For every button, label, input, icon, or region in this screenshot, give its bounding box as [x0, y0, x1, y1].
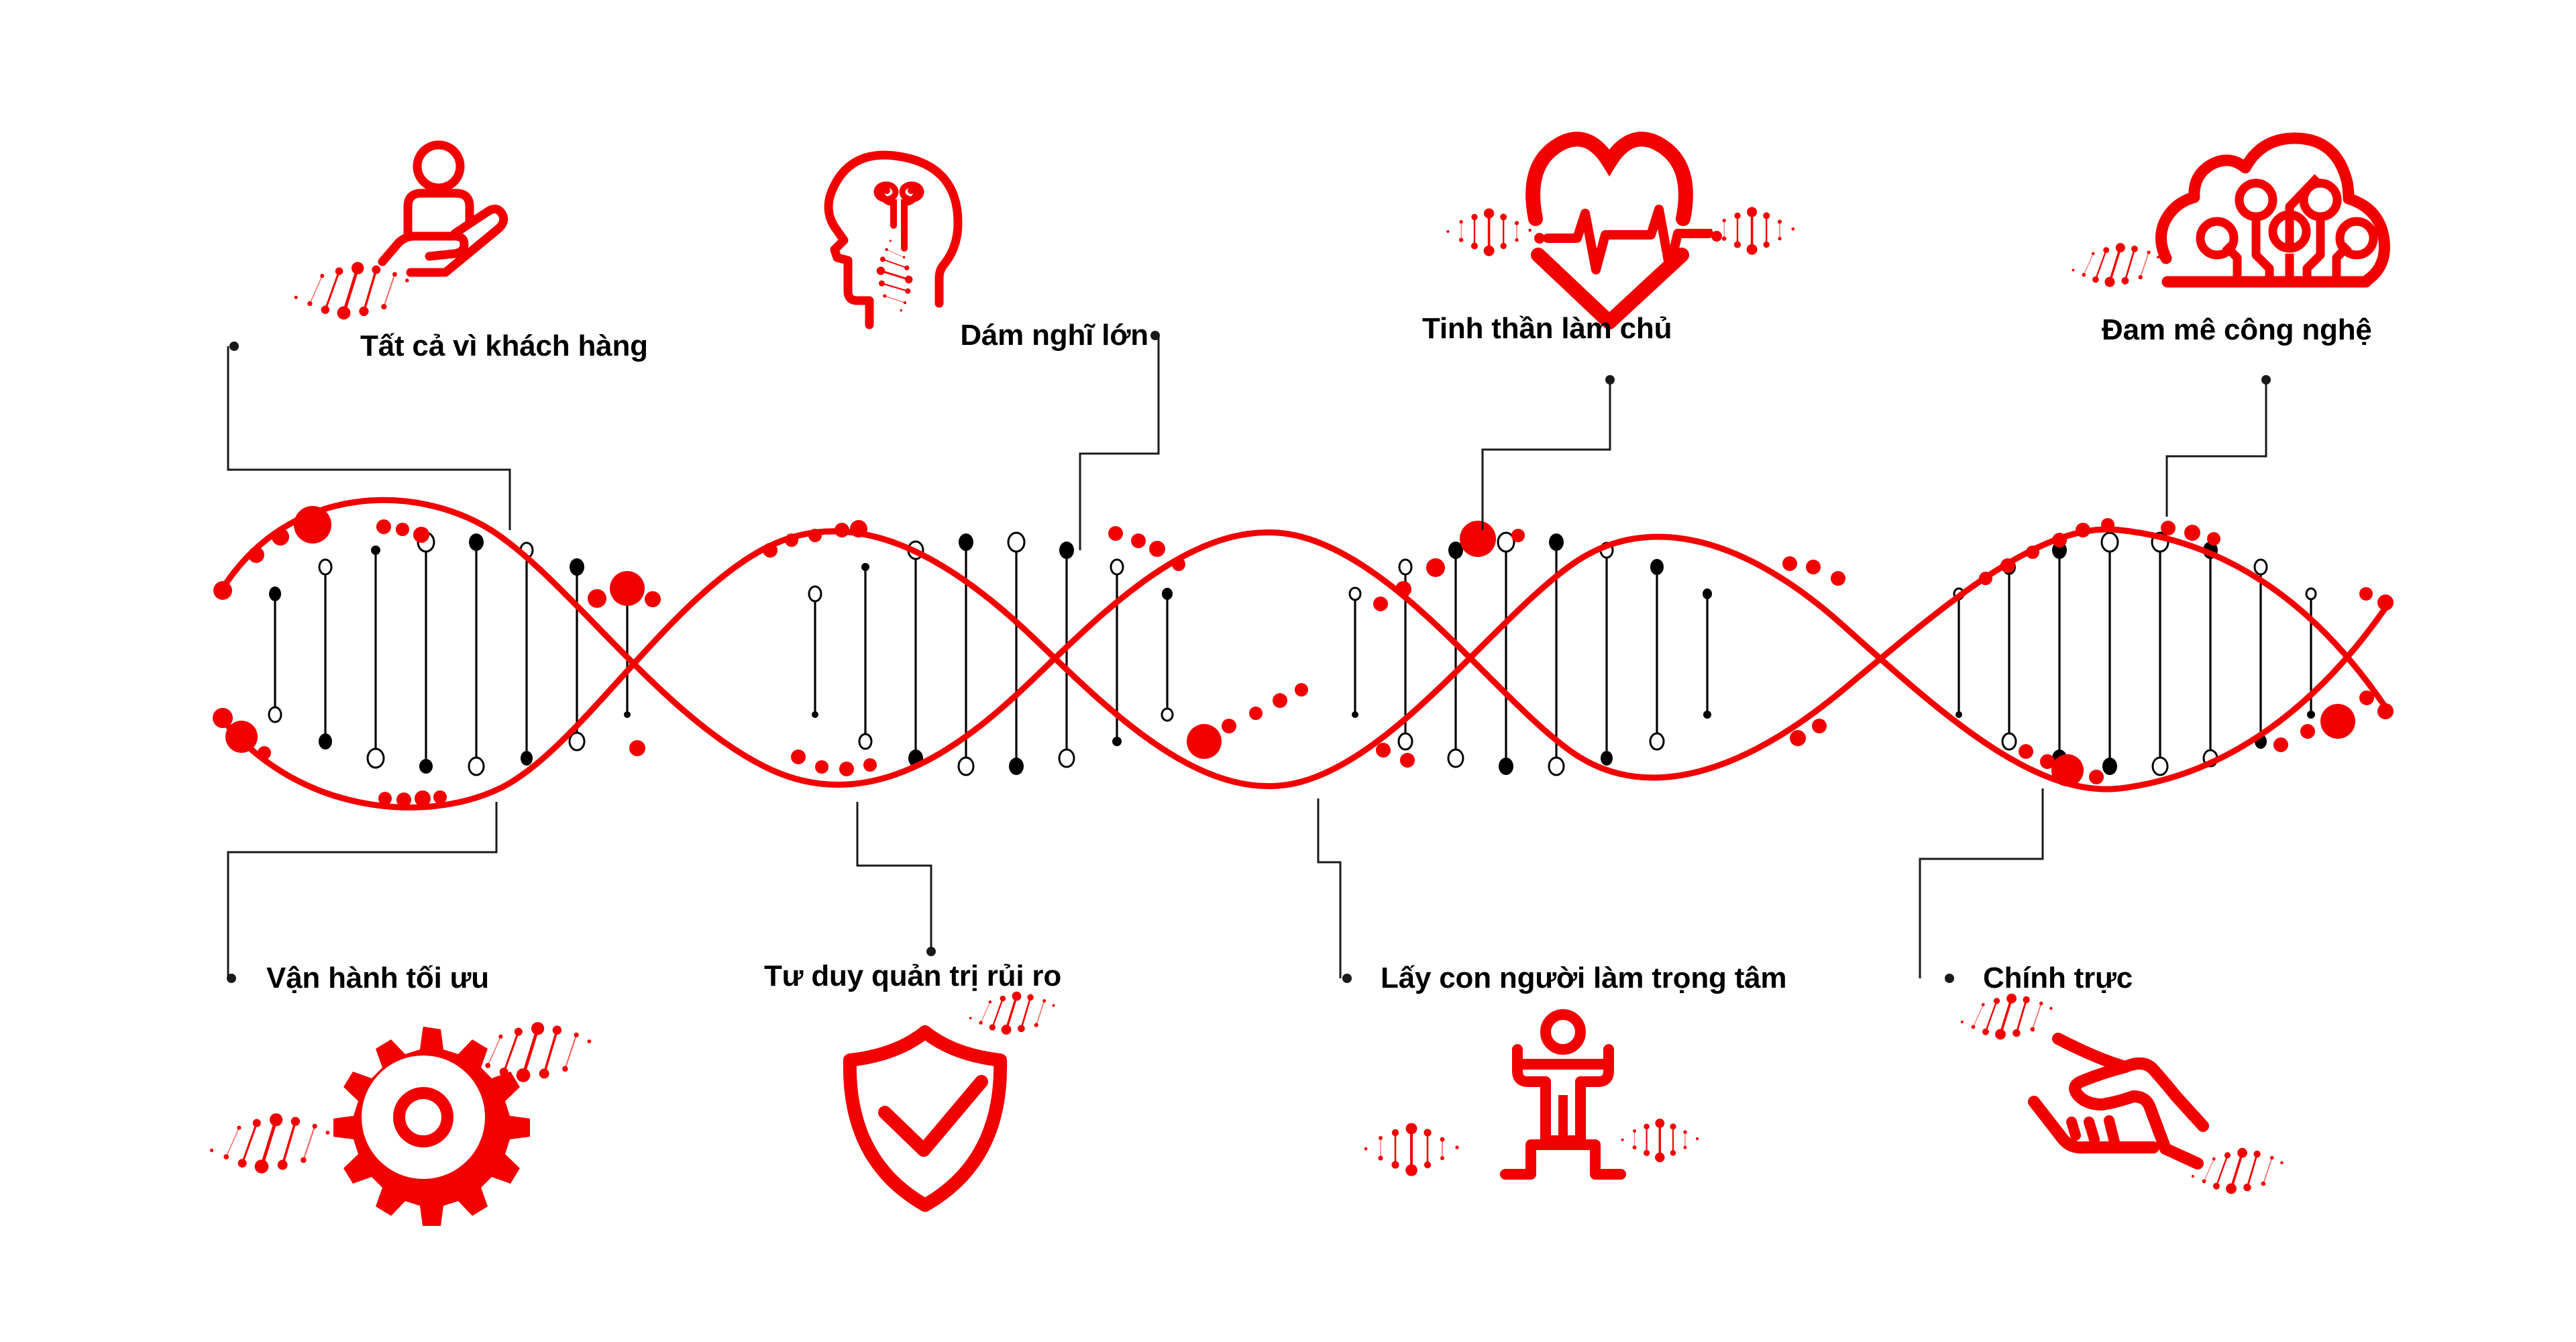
head-lightbulb-icon [828, 155, 958, 325]
dna-helix [213, 500, 2394, 807]
label-connectors [228, 335, 2266, 978]
gear-icon [210, 1022, 591, 1226]
label-dam-nghi-lon[interactable]: Dám nghĩ lớn [960, 321, 1148, 350]
label-tinh-than-lam-chu[interactable]: Tinh thần làm chủ [1422, 314, 1672, 344]
person-in-hand-icon [294, 145, 504, 319]
handshake-icon [1961, 994, 2284, 1194]
heart-pulse-icon [1446, 139, 1794, 322]
label-tat-ca-vi-khach-hang[interactable]: Tất cả vì khách hàng [360, 331, 648, 361]
connector-end-dots [227, 331, 2271, 983]
label-van-hanh-toi-uu[interactable]: Vận hành tối ưu [266, 964, 489, 993]
connector-lay-con-nguoi [1318, 798, 1340, 978]
label-dam-me-cong-nghe[interactable]: Đam mê công nghệ [2102, 315, 2372, 345]
shield-check-icon [850, 992, 1055, 1205]
connector-chinh-truc [1920, 788, 2043, 978]
cloud-circuit-icon [2072, 138, 2385, 287]
connector-dam-nghi-lon [1080, 335, 1159, 550]
dna-values-illustration [0, 0, 2576, 1342]
connector-tinh-than-lam-chu [1483, 382, 1610, 530]
person-podium-icon [1364, 1015, 1699, 1176]
label-lay-con-nguoi-lam-trong-tam[interactable]: Lấy con người làm trọng tâm [1381, 964, 1786, 993]
connector-van-hanh-toi-uu [228, 802, 496, 978]
label-tu-duy-quan-tri-rui-ro[interactable]: Tư duy quản trị rủi ro [764, 962, 1061, 991]
label-chinh-truc[interactable]: Chính trực [1983, 964, 2133, 993]
infographic-canvas: Tất cả vì khách hàng Dám nghĩ lớn Tinh t… [0, 0, 2576, 1342]
connector-tu-duy-quan-tri-rui-ro [857, 802, 931, 949]
connector-dam-me-cong-nghe [2167, 382, 2266, 517]
